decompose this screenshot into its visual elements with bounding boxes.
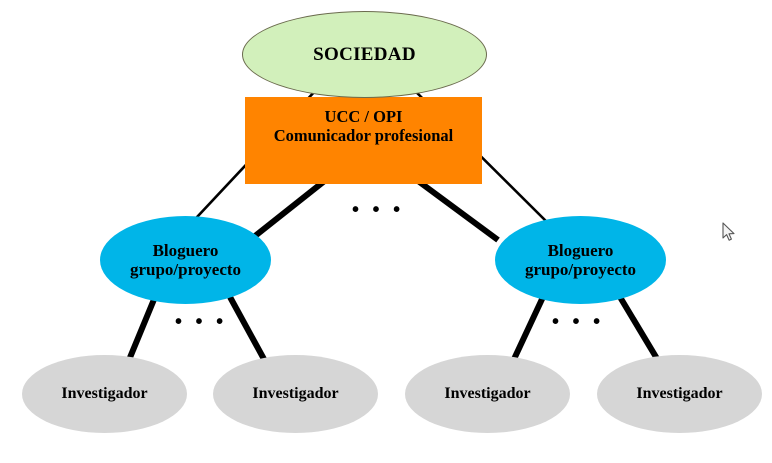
node-investigador-3-label: Investigador: [444, 385, 530, 403]
mouse-pointer-icon: [722, 222, 736, 242]
node-bloguero-right-label-line2: grupo/proyecto: [525, 260, 636, 279]
ellipsis-between-blogueros: • • •: [352, 200, 404, 220]
node-bloguero-left-label-line1: Bloguero: [153, 241, 219, 260]
node-ucc-opi-label-line1: UCC / OPI: [325, 108, 403, 126]
node-bloguero-left-label-line2: grupo/proyecto: [130, 260, 241, 279]
node-investigador-4[interactable]: Investigador: [597, 355, 762, 433]
node-investigador-1-label: Investigador: [61, 385, 147, 403]
node-investigador-2[interactable]: Investigador: [213, 355, 378, 433]
node-bloguero-left[interactable]: Bloguero grupo/proyecto: [100, 216, 271, 304]
node-investigador-3[interactable]: Investigador: [405, 355, 570, 433]
node-sociedad-label: SOCIEDAD: [313, 44, 416, 65]
node-bloguero-right-label-line1: Bloguero: [548, 241, 614, 260]
node-investigador-2-label: Investigador: [252, 385, 338, 403]
ellipsis-under-bloguero-right: • • •: [552, 312, 604, 332]
node-bloguero-right[interactable]: Bloguero grupo/proyecto: [495, 216, 666, 304]
node-ucc-opi-label-line2: Comunicador profesional: [274, 127, 454, 145]
node-investigador-1[interactable]: Investigador: [22, 355, 187, 433]
node-investigador-4-label: Investigador: [636, 385, 722, 403]
diagram-canvas: SOCIEDAD UCC / OPI Comunicador profesion…: [0, 0, 772, 463]
ellipsis-under-bloguero-left: • • •: [175, 312, 227, 332]
node-sociedad[interactable]: SOCIEDAD: [242, 11, 487, 98]
edge-ucc-to-bloguero-right: [410, 175, 498, 240]
edge-ucc-to-bloguero-left: [250, 175, 332, 240]
node-ucc-opi[interactable]: UCC / OPI Comunicador profesional: [245, 97, 482, 184]
